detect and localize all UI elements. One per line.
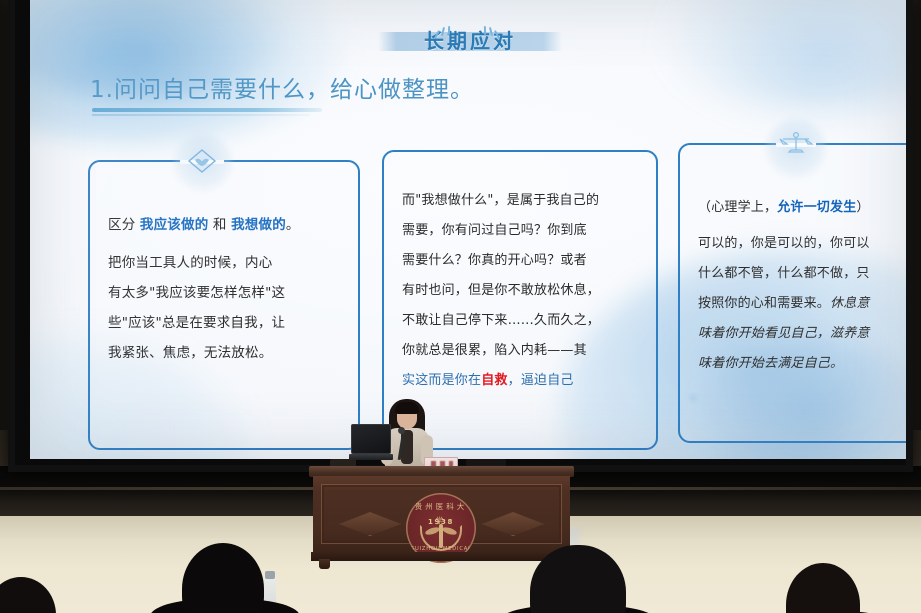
laptop-screen [351,424,391,454]
lecture-hall-photo: 长期应对 1.问问自己需要什么，给心做整理。 [0,0,921,613]
podium-base [311,552,572,561]
card-1-head-mid: 和 [208,217,231,233]
card-2-line: 有时也问，但是你不敢放松休息， [402,276,638,306]
card-1-emphasis-2: 我想做的 [231,217,286,233]
card-2-last-pre: 实这 [402,373,428,388]
watercolor-top-right [660,0,910,110]
subtitle-underline [92,108,322,112]
card-2-line: 而"我想做什么"，是属于我自己的 [402,186,638,216]
watercolor-speck [730,300,735,305]
card-3-body: （心理学上，允许一切发生） 可以的，你是可以的，你可以 什么都不管，什么都不做，… [680,193,910,379]
card-1-emphasis-1: 我应该做的 [140,217,209,233]
watercolor-speck [690,395,696,401]
subtitle-underline-secondary [92,114,310,116]
card-3-head-suffix: ） [856,200,869,215]
card-1-line: 把你当工具人的时候，内心 [108,248,340,278]
microphone-head [398,427,405,434]
card-3-italic-line: 味着你开始去满足自己。 [698,349,910,379]
card-3-headline: （心理学上，允许一切发生） [698,193,910,223]
watercolor-speck [775,335,779,339]
watercolor-bottom-right-2 [690,339,910,459]
card-2-last-post: ，逼迫自己 [508,373,574,388]
presenter-fringe [395,402,419,414]
watercolor-top-left [30,0,350,145]
screen-vignette [30,0,910,459]
sparkle-right-icon [484,26,504,44]
card-2-last-line: 实这而是你在自救，逼迫自己 [402,366,638,396]
podium-front-panel: 贵州医科大学 1938 GUIZHOU MEDICAL UNIVERSITY [313,476,570,554]
card-3-mixed-line: 按照你的心和需要来。休息意 [698,289,910,319]
watercolor-bottom-right [560,249,910,459]
watercolor-bottom-left [30,339,250,459]
card-2-red-emphasis: 自救 [481,373,507,388]
card-1-head-suffix: 。 [286,217,300,233]
content-card-1: 区分 我应该做的 和 我想做的。 把你当工具人的时候，内心 有太多"我应该要怎样… [88,160,360,450]
presentation-slide: 长期应对 1.问问自己需要什么，给心做整理。 [30,0,910,459]
card-3-head-prefix: （心理学上， [698,200,777,215]
card-2-line: 你就总是很累，陷入内耗——其 [402,336,638,366]
card-1-line: 我紧张、焦虑，无法放松。 [108,338,340,368]
card-2-last-mid: 而是你在 [428,373,481,388]
podium-foot-left [319,559,330,569]
card-1-line: 有太多"我应该要怎样怎样"这 [108,278,340,308]
slide-subtitle: 1.问问自己需要什么，给心做整理。 [90,70,790,104]
card-3-mixed-italic: 休息意 [830,296,870,311]
lectern-podium: 贵州医科大学 1938 GUIZHOU MEDICAL UNIVERSITY [313,466,570,564]
card-2-line: 需要什么？你真的开心吗？或者 [402,246,638,276]
card-3-italic-line: 味着你开始看见自己，滋养意 [698,319,910,349]
card-3-line: 什么都不管，什么都不做，只 [698,259,910,289]
card-2-body: 而"我想做什么"，是属于我自己的 需要，你有问过自己吗？你到底 需要什么？你真的… [384,186,656,396]
slide-section-title: 长期应对 [30,22,910,58]
laptop [349,424,393,464]
card-2-line: 需要，你有问过自己吗？你到底 [402,216,638,246]
card-3-emphasis: 允许一切发生 [777,200,856,215]
card-3-line: 可以的，你是可以的，你可以 [698,229,910,259]
card-1-line: 些"应该"总是在要求自我，让 [108,308,340,338]
water-bottle-cap [265,571,275,579]
projection-screen-bezel: 长期应对 1.问问自己需要什么，给心做整理。 [8,0,913,472]
card-1-headline: 区分 我应该做的 和 我想做的。 [108,210,340,240]
card-1-head-prefix: 区分 [108,217,140,233]
card-3-mixed-normal: 按照你的心和需要来。 [698,296,830,311]
card-2-line: 不敢让自己停下来……久而久之， [402,306,638,336]
content-card-3: （心理学上，允许一切发生） 可以的，你是可以的，你可以 什么都不管，什么都不做，… [678,143,910,443]
screen-glare [30,0,910,459]
sparkle-left-icon [436,26,456,44]
balance-scale-icon [778,131,814,161]
heart-diamond-icon [187,148,217,178]
watercolor-top-left-2 [30,0,290,100]
card-1-body: 区分 我应该做的 和 我想做的。 把你当工具人的时候，内心 有太多"我应该要怎样… [90,210,358,368]
